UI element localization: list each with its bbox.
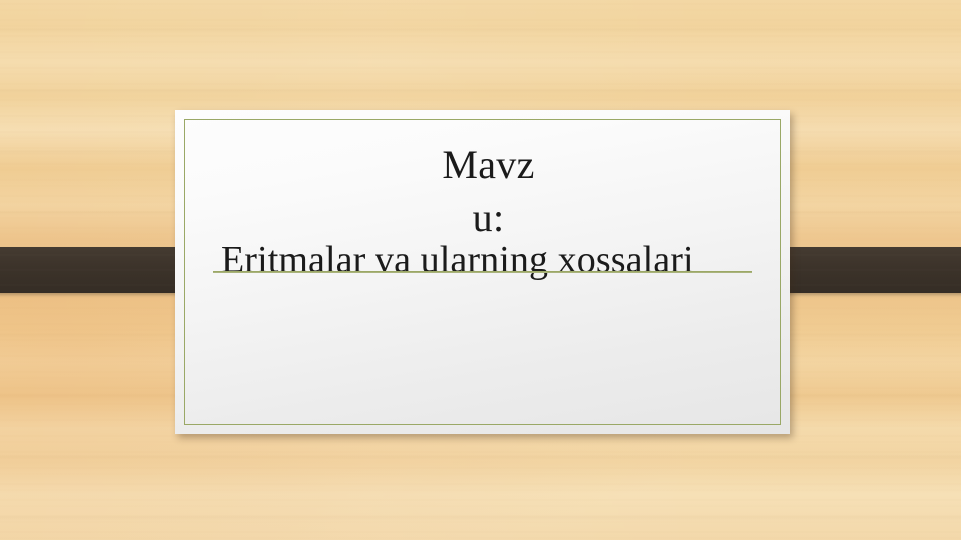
- slide-stage: Mavz u: Eritmalar va ularning xossalari: [0, 0, 961, 540]
- decorative-cross-bar-left: [0, 247, 195, 293]
- title-text-block: Mavz u: Eritmalar va ularning xossalari: [213, 138, 758, 244]
- slide-subject-label: Mavz u:: [213, 138, 758, 244]
- decorative-cross-bar-right: [766, 247, 961, 293]
- title-underline-rule: [213, 271, 752, 273]
- slide-title: Eritmalar va ularning xossalari: [221, 235, 761, 285]
- title-card: Mavz u: Eritmalar va ularning xossalari: [175, 110, 790, 434]
